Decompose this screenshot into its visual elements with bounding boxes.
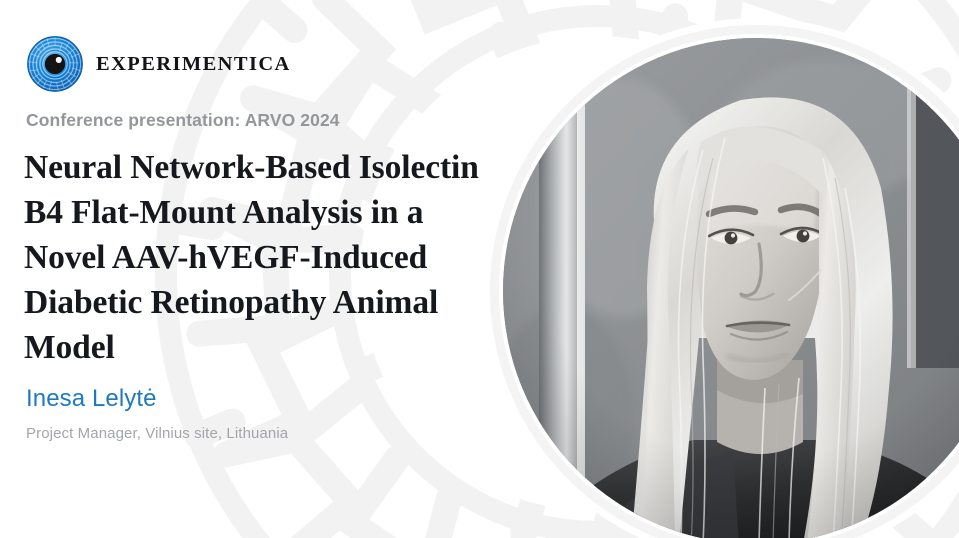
conference-eyebrow: Conference presentation: ARVO 2024 [26,110,340,131]
speaker-portrait [503,38,959,538]
brand-lockup: EXPERIMENTICA [26,35,291,93]
presenter-role: Project Manager, Vilnius site, Lithuania [26,425,288,442]
presenter-name: Inesa Lelytė [26,385,157,413]
presentation-slide: EXPERIMENTICA Conference presentation: A… [0,0,959,538]
brand-name: EXPERIMENTICA [96,53,291,76]
experimentica-eye-maze-logo-icon [26,35,84,93]
page-title: Neural Network-Based Isolectin B4 Flat-M… [24,145,499,370]
slide-content: EXPERIMENTICA Conference presentation: A… [24,0,494,538]
